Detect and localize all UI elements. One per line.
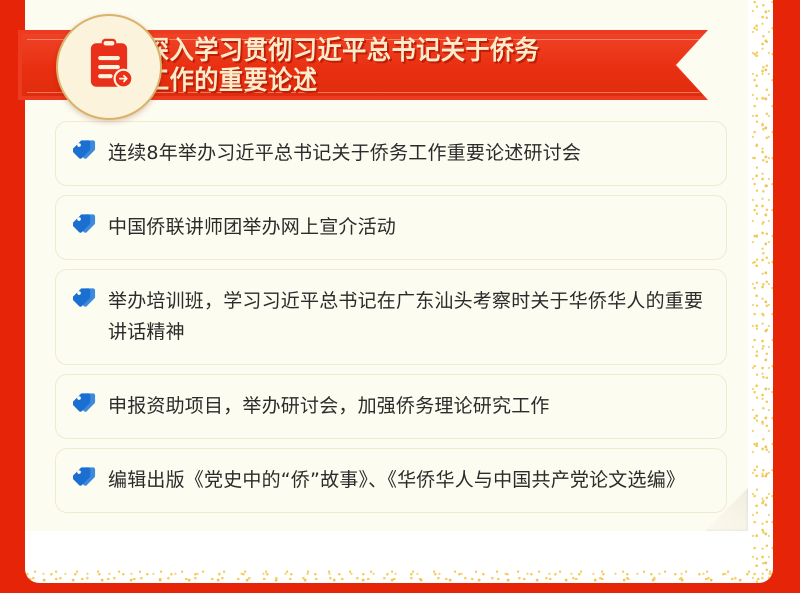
double-tag-icon bbox=[73, 139, 99, 161]
double-tag-icon bbox=[73, 213, 99, 235]
gold-speckle-bottom bbox=[25, 563, 773, 583]
page-title: 深入学习贯彻习近平总书记关于侨务 工作的重要论述 bbox=[145, 36, 647, 96]
poster-page: 深入学习贯彻习近平总书记关于侨务 工作的重要论述 bbox=[0, 0, 800, 593]
list-item[interactable]: 编辑出版《党史中的“侨”故事》、《华侨华人与中国共产党论文选编》 bbox=[55, 448, 727, 513]
bullet-list: 连续8年举办习近平总书记关于侨务工作重要论述研讨会 中国侨联讲师团举办网上宣介活… bbox=[55, 121, 727, 522]
list-item[interactable]: 举办培训班，学习习近平总书记在广东汕头考察时关于华侨华人的重要讲话精神 bbox=[55, 269, 727, 365]
header-badge bbox=[56, 14, 162, 120]
header-ribbon: 深入学习贯彻习近平总书记关于侨务 工作的重要论述 bbox=[18, 30, 708, 100]
gold-speckle-right bbox=[751, 0, 773, 583]
clipboard-arrow-icon bbox=[80, 36, 138, 99]
list-item[interactable]: 连续8年举办习近平总书记关于侨务工作重要论述研讨会 bbox=[55, 121, 727, 186]
double-tag-icon bbox=[73, 287, 99, 309]
list-item[interactable]: 中国侨联讲师团举办网上宣介活动 bbox=[55, 195, 727, 260]
double-tag-icon bbox=[73, 466, 99, 488]
list-item-text: 申报资助项目，举办研讨会，加强侨务理论研究工作 bbox=[108, 391, 550, 422]
list-item[interactable]: 申报资助项目，举办研讨会，加强侨务理论研究工作 bbox=[55, 374, 727, 439]
list-item-text: 连续8年举办习近平总书记关于侨务工作重要论述研讨会 bbox=[108, 138, 581, 169]
list-item-text: 编辑出版《党史中的“侨”故事》、《华侨华人与中国共产党论文选编》 bbox=[108, 465, 685, 496]
list-item-text: 中国侨联讲师团举办网上宣介活动 bbox=[108, 212, 396, 243]
page-title-line2: 工作的重要论述 bbox=[145, 66, 647, 96]
list-item-text: 举办培训班，学习习近平总书记在广东汕头考察时关于华侨华人的重要讲话精神 bbox=[108, 286, 708, 348]
double-tag-icon bbox=[73, 392, 99, 414]
page-title-line1: 深入学习贯彻习近平总书记关于侨务 bbox=[145, 36, 539, 66]
